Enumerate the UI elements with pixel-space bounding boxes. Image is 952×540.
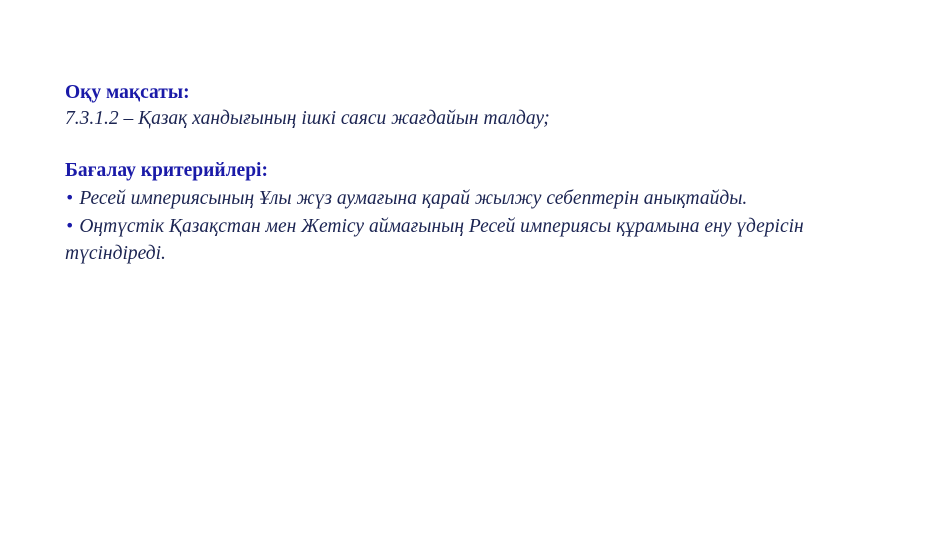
list-item-text: Оңтүстік Қазақстан мен Жетісу аймағының … xyxy=(65,216,804,264)
learning-objective-heading: Оқу мақсаты: xyxy=(65,80,865,106)
slide-text-block: Оқу мақсаты: 7.3.1.2 – Қазақ хандығының … xyxy=(65,80,865,267)
assessment-criteria-heading: Бағалау критерийлері: xyxy=(65,158,865,184)
list-item: • Оңтүстік Қазақстан мен Жетісу аймағыны… xyxy=(65,212,855,267)
bullet-icon: • xyxy=(65,216,74,235)
learning-objective-text: 7.3.1.2 – Қазақ хандығының ішкі саяси жа… xyxy=(65,106,865,132)
assessment-criteria-list: • Ресей империясының Ұлы жүз аумағына қа… xyxy=(65,184,865,267)
slide-canvas: Оқу мақсаты: 7.3.1.2 – Қазақ хандығының … xyxy=(0,0,952,540)
list-item: • Ресей империясының Ұлы жүз аумағына қа… xyxy=(65,184,855,212)
bullet-icon: • xyxy=(65,188,74,207)
list-item-text: Ресей империясының Ұлы жүз аумағына қара… xyxy=(79,188,747,209)
block-spacer xyxy=(65,132,865,158)
